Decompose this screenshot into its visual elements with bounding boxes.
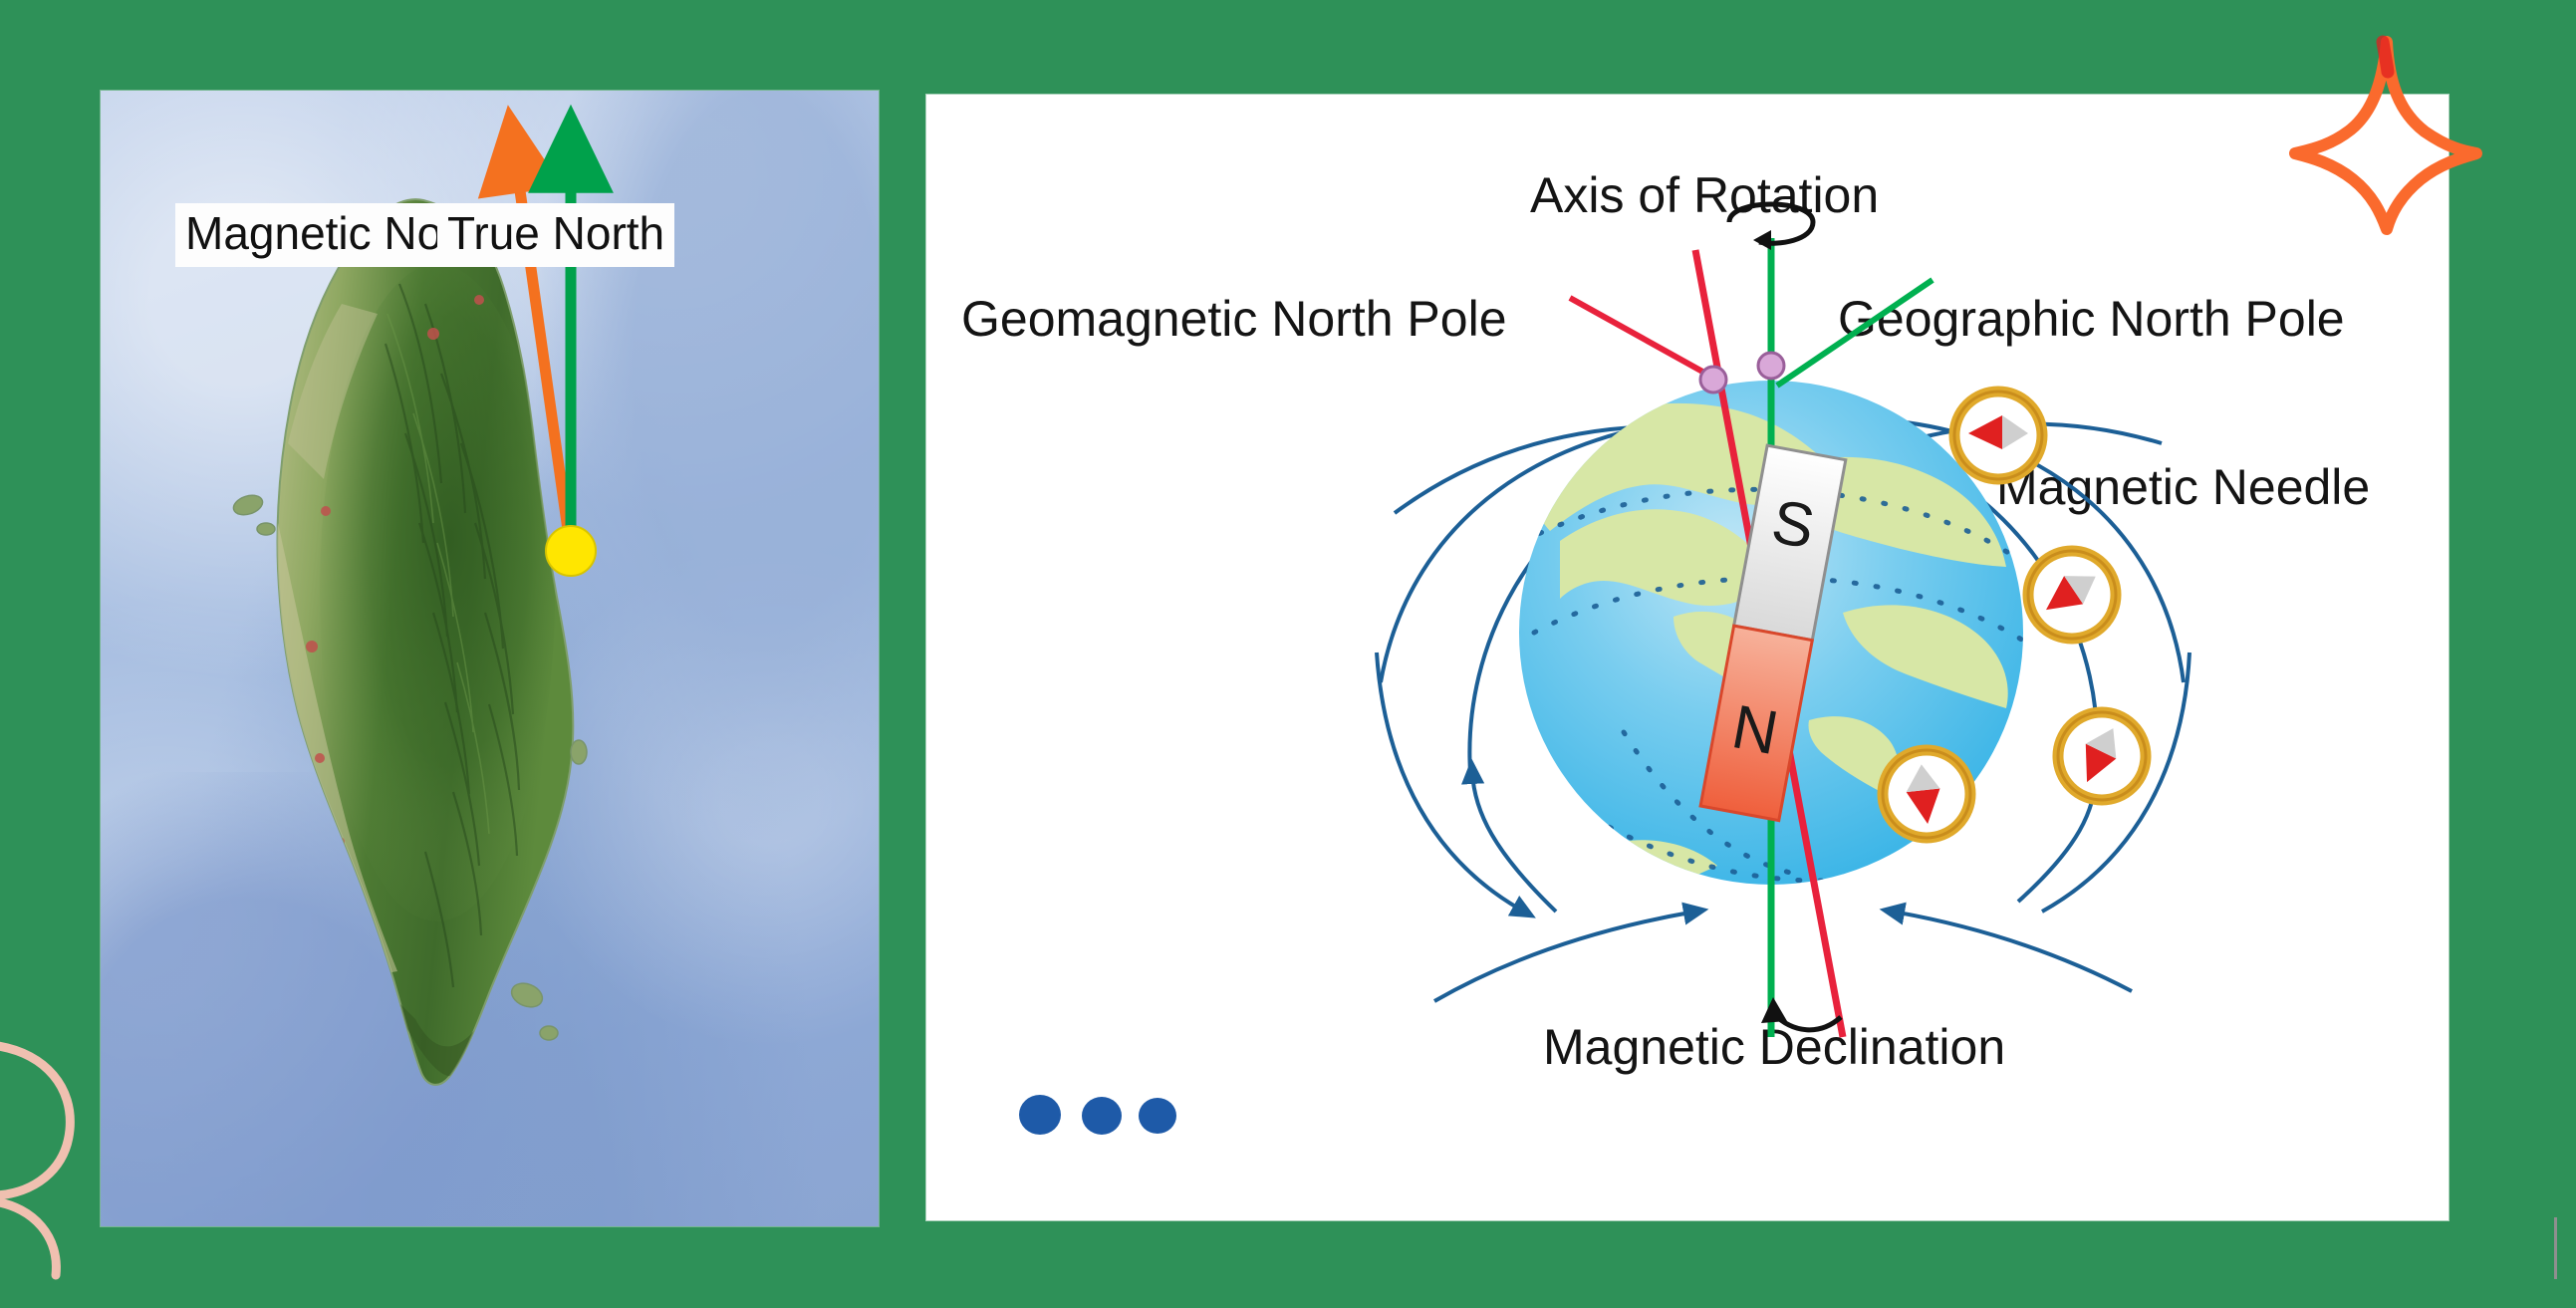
earth-globe-illustration: S N bbox=[1375, 214, 2191, 1071]
bullet-dot bbox=[1139, 1098, 1176, 1134]
bullet-dots-group bbox=[1019, 1095, 1178, 1141]
geomagnetic-pole-pointer bbox=[1570, 298, 1713, 378]
compass-needle-4 bbox=[1883, 750, 1970, 838]
compass-needle-2 bbox=[2028, 551, 2116, 639]
taiwan-island-shape bbox=[228, 194, 619, 1091]
four-point-star-icon bbox=[2291, 38, 2480, 232]
bullet-dot bbox=[1082, 1097, 1122, 1135]
true-north-label: True North bbox=[437, 203, 674, 267]
page-edge-rule bbox=[2554, 1217, 2557, 1279]
axis-of-rotation-label: Axis of Rotation bbox=[1530, 170, 1879, 220]
slide-canvas: Magnetic North True North Axis of Rotati… bbox=[0, 0, 2576, 1308]
geographic-pole-marker bbox=[1758, 353, 1784, 379]
hand-drawn-squiggle bbox=[8, 1026, 128, 1285]
geographic-pole-pointer bbox=[1777, 280, 1932, 386]
taiwan-map-panel: Magnetic North True North bbox=[101, 91, 879, 1226]
geomagnetic-pole-marker bbox=[1700, 367, 1726, 392]
compass-needle-3 bbox=[2058, 712, 2146, 800]
bullet-dot bbox=[1019, 1095, 1061, 1135]
compass-needle-1 bbox=[1954, 392, 2042, 479]
